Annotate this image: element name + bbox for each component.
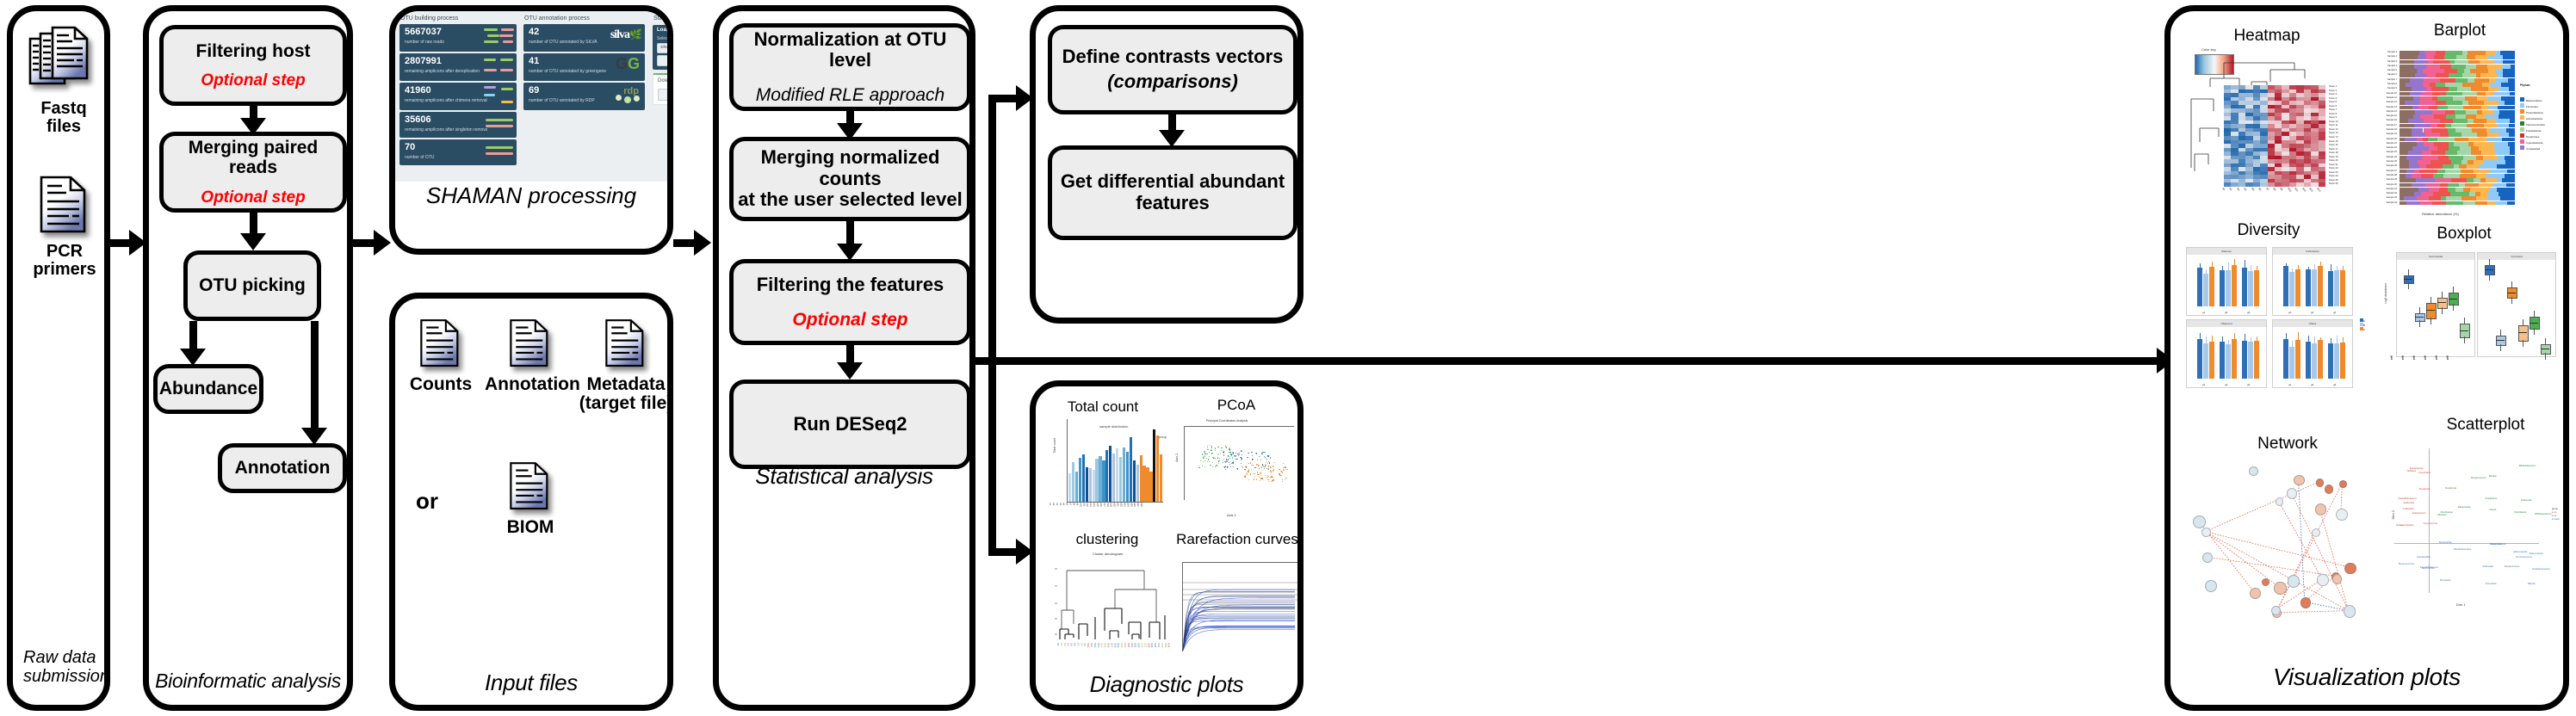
stat-value: 35606	[405, 114, 431, 125]
tick-label: Sample 33	[2387, 196, 2397, 199]
bar-segment	[2479, 146, 2495, 151]
scatter-label: Blautia	[2489, 474, 2497, 478]
bar	[2328, 343, 2333, 379]
bar-segment	[2505, 101, 2515, 105]
bar	[2254, 341, 2259, 379]
scatter-point	[1220, 454, 1221, 454]
arrow-trunk-to-visualization	[1029, 357, 2158, 365]
bar-segment	[2488, 55, 2504, 59]
rarefaction-curve	[1183, 620, 1295, 651]
scatter-label: Alistipes	[2407, 469, 2416, 472]
scatter-label: Lactobacillus	[2417, 555, 2430, 559]
bar-segment	[2480, 73, 2498, 77]
scatter-point	[1272, 480, 1273, 481]
open-counts-button[interactable]: Open the counts table	[657, 55, 673, 66]
plot-network	[2183, 455, 2370, 627]
whisker	[2489, 259, 2490, 265]
network-node	[2202, 552, 2213, 563]
error-bar	[2222, 336, 2223, 342]
tick-label: Sample 7	[2387, 78, 2397, 81]
bar-segment	[2426, 73, 2436, 77]
bar-segment	[2484, 124, 2498, 128]
document-icon	[418, 318, 463, 369]
scatter-point	[1256, 453, 1257, 454]
scatter-point	[1208, 459, 1209, 460]
network-node	[2288, 575, 2300, 588]
bar	[1153, 429, 1155, 502]
bar-segment	[2484, 101, 2499, 105]
sparkline-icon	[484, 146, 517, 160]
bar	[2340, 270, 2345, 306]
scatter-point	[1285, 478, 1286, 478]
arrow-statistical-trunk	[975, 357, 1029, 365]
stat-value: 41	[529, 56, 539, 66]
scatter-point	[1215, 447, 1216, 448]
bar	[1105, 450, 1108, 502]
scatter-label: Roseburia	[2445, 486, 2456, 490]
bar	[2248, 342, 2253, 379]
tick-label: Sample 20	[2387, 138, 2397, 140]
scatter-point	[1242, 466, 1242, 466]
tick-label: Sample 28	[2387, 174, 2397, 176]
tick-label: Taxon 6	[2329, 105, 2337, 108]
step-title: Filtering the features	[757, 275, 944, 296]
plot-title-clustering: clustering	[1051, 531, 1163, 548]
tick-label: Sample 2	[2387, 55, 2397, 58]
tick-label: Sample 34	[2387, 201, 2397, 204]
bar-segment	[2444, 55, 2456, 59]
whisker	[2430, 297, 2431, 303]
bar	[2289, 347, 2294, 380]
tick-label: g1	[2202, 311, 2205, 314]
scatter-point	[1204, 466, 1205, 467]
box	[2437, 298, 2448, 309]
scatter-point	[1258, 474, 1259, 475]
bar-segment	[2417, 69, 2423, 73]
bar-segment	[2494, 146, 2510, 151]
bar	[2306, 342, 2311, 379]
bar-segment	[2453, 119, 2467, 123]
tick-label: Sample 17	[2387, 124, 2397, 127]
error-bar	[2337, 266, 2338, 271]
bar-segment	[2431, 87, 2449, 91]
bar-segment	[2443, 174, 2460, 178]
bar-segment	[2476, 114, 2485, 119]
bar-segment	[2506, 183, 2515, 188]
bar-segment	[2432, 201, 2447, 206]
scatter-point	[1227, 466, 1228, 467]
scatter-point	[1266, 462, 1266, 463]
bar-segment	[2455, 60, 2468, 65]
bar-segment	[2484, 160, 2505, 164]
bar-segment	[2446, 201, 2462, 206]
bar-segment	[2497, 164, 2515, 169]
rarefaction-curve	[1183, 618, 1295, 651]
scatter-point	[1270, 467, 1271, 468]
step-run-deseq2: Run DESeq2	[729, 380, 971, 469]
bar-segment	[2437, 138, 2455, 142]
bar-segment	[2498, 124, 2509, 128]
tick-label: Taxon 7	[2329, 108, 2337, 111]
arrow-otu-to-abundance	[189, 321, 197, 352]
tick-label: Taxon 22	[2329, 167, 2338, 170]
bar-segment	[2409, 164, 2420, 169]
stat-value: 5667037	[405, 27, 442, 37]
bar-segment	[2446, 92, 2461, 96]
scatter-point	[1267, 455, 1268, 456]
shaman-annotation-card-1: 41 number of OTU annotated by greengenes…	[523, 53, 645, 81]
bar-segment	[2445, 110, 2455, 114]
bar-segment	[2455, 110, 2465, 114]
box	[2530, 317, 2540, 330]
scatter-point	[1241, 463, 1242, 464]
rarefaction-curve	[1183, 603, 1295, 651]
bar	[1068, 473, 1071, 502]
whisker	[2453, 304, 2454, 311]
scatter-point	[1223, 453, 1224, 454]
step-title: OTU picking	[199, 275, 306, 296]
facet-panel: Corrected	[2477, 252, 2556, 357]
bar-segment	[2439, 188, 2448, 192]
bar-segment	[2400, 160, 2409, 164]
scatter-label: Roseburia	[2419, 487, 2430, 491]
rarefaction-curve	[1183, 609, 1295, 651]
scatter-label: Ruminococcus	[2399, 562, 2414, 565]
scatter-label: Streptococcus	[2471, 476, 2486, 479]
bar-segment	[2469, 192, 2475, 196]
step-merging-paired-reads: Merging paired reads Optional step	[159, 132, 347, 213]
scatter-point	[1282, 479, 1283, 480]
tick-label: S4	[2243, 187, 2247, 191]
median-line	[2518, 332, 2527, 333]
bar-segment	[2470, 69, 2488, 73]
bar-segment	[2409, 160, 2417, 164]
bar-segment	[2470, 188, 2490, 192]
bar-segment	[2418, 55, 2426, 59]
scatter-point	[1259, 468, 1260, 469]
step-title-line1: Merging normalized counts	[734, 147, 967, 189]
bar	[2209, 267, 2214, 306]
bar-segment	[2445, 83, 2462, 87]
whisker	[2500, 330, 2501, 336]
scatter-point	[1273, 466, 1274, 467]
bar-segment	[2445, 124, 2451, 128]
shaman-caption: SHAMAN processing	[395, 183, 667, 208]
scatter-point	[1261, 454, 1262, 454]
bar-segment	[2505, 174, 2515, 178]
whisker	[2442, 292, 2443, 298]
plot-title-network: Network	[2219, 435, 2356, 454]
scatter-point	[1210, 445, 1211, 446]
tick-label: S11	[2294, 187, 2299, 192]
scatter-label: Odoribacter	[2514, 510, 2527, 514]
scatter-point	[1254, 478, 1254, 479]
bar-segment	[2450, 192, 2468, 196]
tick-label: Taxon 8	[2329, 113, 2337, 115]
box	[2485, 265, 2495, 275]
bar-segment	[2420, 201, 2431, 206]
scatter-point	[1256, 479, 1257, 480]
tick-label: S3	[2236, 187, 2240, 191]
bar-segment	[2487, 133, 2499, 137]
tick-label: Sample 3	[2387, 60, 2397, 63]
download-results-button[interactable]: Download the results	[658, 89, 673, 101]
stat-caption: remaining amplicons after singleton remo…	[405, 127, 487, 133]
scatter-point	[1261, 466, 1262, 467]
bar-segment	[2400, 69, 2417, 73]
scatter-point	[1280, 475, 1281, 476]
scatter-point	[1239, 454, 1240, 455]
arrow-inputs-to-statistical	[673, 239, 696, 247]
bar-segment	[2437, 146, 2449, 151]
error-bar	[2228, 340, 2229, 344]
bar	[2289, 272, 2294, 306]
error-bar	[2343, 337, 2344, 342]
tick-label: Sample 25	[2387, 160, 2397, 163]
bar-segment	[2499, 192, 2515, 196]
tick-label: Taxon 21	[2329, 164, 2338, 166]
tick-label: Taxon 9	[2329, 116, 2337, 119]
shaman-screenshot: OTU building process 5667037 number of r…	[395, 11, 673, 182]
tick-label: Sample 21	[2387, 142, 2397, 145]
scatter-label: Dorea	[2396, 523, 2403, 527]
bar-segment	[2466, 65, 2476, 69]
bar-segment	[2400, 65, 2414, 69]
scatter-label: Collinsella	[2482, 565, 2493, 568]
error-bar	[2212, 336, 2213, 342]
error-bar	[2320, 262, 2321, 266]
stat-value: 2807991	[405, 56, 442, 66]
bar-segment	[2434, 114, 2447, 119]
bar	[2203, 274, 2208, 306]
network-node	[2287, 488, 2297, 498]
error-bar	[2292, 341, 2293, 347]
whisker	[2464, 318, 2465, 324]
bar-segment	[2503, 69, 2515, 73]
error-bar	[2308, 336, 2309, 342]
step-normalization-otu-level: Normalization at OTU level Modified RLE …	[729, 23, 971, 111]
scatter-point	[1215, 466, 1216, 467]
median-line	[2426, 310, 2435, 311]
tick-label: Sample 27	[2387, 170, 2397, 172]
error-bar	[2222, 266, 2223, 271]
bar-segment	[2423, 83, 2430, 87]
bar-segment	[2400, 174, 2406, 178]
legend-label: Unclassified	[2526, 147, 2540, 151]
bar	[1112, 454, 1115, 502]
scatter-point	[1280, 471, 1281, 472]
shaman-download-panel: Download a profile Download the results	[653, 73, 673, 105]
whisker	[2430, 318, 2431, 324]
stat-caption: number of raw reads	[405, 40, 484, 45]
scatter-point	[1246, 466, 1247, 466]
bar-segment	[2400, 178, 2416, 182]
bar-segment	[2437, 124, 2444, 128]
scatter-point	[1257, 460, 1258, 460]
bar-segment	[2502, 65, 2511, 69]
bar	[2232, 265, 2237, 306]
tick-label: grp3	[2412, 355, 2415, 360]
bar-segment	[2419, 170, 2437, 174]
bar-segment	[2400, 170, 2406, 174]
bar-segment	[2486, 92, 2493, 96]
bar-segment	[2487, 196, 2501, 201]
tick-label: g3	[2247, 311, 2250, 314]
scatter-point	[1273, 470, 1273, 471]
scatter-point	[1259, 477, 1260, 478]
shaman-otu-card-3: 35606 remaining amplicons after singleto…	[399, 112, 517, 138]
bar-segment	[2509, 124, 2515, 128]
error-bar	[2200, 263, 2201, 268]
bar-segment	[2475, 201, 2487, 206]
step-title-line2: at the user selected level	[738, 189, 962, 211]
error-bar	[2245, 260, 2245, 268]
bar-segment	[2499, 133, 2510, 137]
arrow-otu-to-abundance-head	[180, 349, 206, 366]
plot-title-pcoa: PCoA	[1172, 397, 1301, 414]
database-select[interactable]: silva ▾	[657, 43, 673, 53]
step-title-line2: features	[1136, 193, 1210, 214]
tick-label: Taxon 23	[2329, 171, 2338, 174]
raw-data-item-label-0: Fastq files	[22, 100, 106, 136]
arrow-bioinformatic-to-shaman-head	[374, 230, 391, 256]
bar-segment	[2462, 101, 2469, 105]
bar-segment	[2502, 178, 2515, 182]
bar-segment	[2446, 101, 2462, 105]
bar-segment	[2489, 78, 2497, 83]
bar-segment	[2440, 65, 2451, 69]
panel-shaman-processing: OTU building process 5667037 number of r…	[389, 5, 673, 255]
bar-segment	[2503, 55, 2515, 59]
scatter-point	[1279, 473, 1279, 474]
scatter-point	[1250, 462, 1251, 463]
bar-segment	[2406, 156, 2422, 160]
error-bar	[2206, 269, 2207, 274]
bar-segment	[2476, 156, 2483, 160]
scatter-point	[1272, 477, 1273, 478]
facet-title: Shannon	[2187, 248, 2266, 255]
bar-segment	[2457, 151, 2471, 155]
bar-segment	[2488, 87, 2499, 91]
tick-label: Sample 13	[2387, 106, 2397, 108]
stat-caption: number of OTU annotated by SILVA	[529, 40, 606, 45]
scatter-point	[1267, 479, 1268, 480]
bar-segment	[2509, 133, 2515, 137]
bar	[1149, 472, 1152, 502]
bar-segment	[2488, 192, 2499, 196]
bar-segment	[2425, 51, 2436, 55]
bar-segment	[2424, 78, 2441, 83]
network-node	[2325, 485, 2334, 494]
scatter-point	[1229, 452, 1230, 453]
bar-segment	[2462, 83, 2481, 87]
bar-segment	[2480, 192, 2488, 196]
bar-segment	[2422, 151, 2431, 155]
tick-label: Taxon 1	[2329, 85, 2337, 88]
document-icon	[604, 318, 648, 369]
raw-data-caption: Raw data submission	[23, 648, 115, 686]
bar-segment	[2497, 188, 2515, 192]
bar-segment	[2499, 114, 2515, 119]
rarefaction-curve	[1183, 629, 1295, 651]
bar-segment	[2485, 114, 2499, 119]
arrow-merging-to-otu-head	[240, 233, 266, 250]
bar-segment	[2400, 133, 2412, 137]
bar-segment	[2444, 69, 2456, 73]
scatter-point	[1229, 447, 1230, 447]
facet-title: InvSimpson	[2273, 248, 2352, 255]
bar	[2318, 340, 2323, 379]
tick-label: Sample 16	[2387, 119, 2397, 121]
scatter-point	[1235, 455, 1236, 456]
arrow-otu-to-annotation-head	[301, 428, 327, 445]
panel-visualization-plots: Heatmap Color key Taxon 1Tax	[2164, 5, 2569, 711]
scatter-point	[1217, 466, 1218, 466]
shaman-otu-card-2: 41960 remaining amplicons after chimera …	[399, 83, 517, 110]
bar	[1123, 447, 1125, 502]
bar-segment	[2498, 106, 2515, 110]
scatter-point	[1223, 454, 1224, 455]
bar-segment	[2434, 55, 2443, 59]
bar-segment	[2474, 119, 2486, 123]
error-bar	[2200, 333, 2201, 338]
bar-segment	[2466, 114, 2476, 119]
bar-segment	[2430, 83, 2436, 87]
bar-segment	[2471, 146, 2478, 151]
network-node	[2205, 580, 2217, 592]
bar-segment	[2400, 164, 2409, 169]
scatter-point	[1225, 469, 1226, 470]
input-file-label-annotation: Annotation	[485, 375, 576, 394]
bar-segment	[2417, 142, 2424, 146]
bar	[2226, 344, 2231, 379]
bar	[1140, 455, 1142, 502]
bar-segment	[2505, 156, 2515, 160]
scatter-label: Veillonella	[2521, 498, 2532, 502]
scatter-point	[1279, 469, 1279, 470]
bar-segment	[2434, 142, 2449, 146]
bar-segment	[2400, 110, 2415, 114]
scatter-point	[1244, 469, 1245, 470]
bar-segment	[2481, 106, 2487, 110]
facet-panel: Observedg1g2g3	[2186, 319, 2267, 388]
scatter-point	[1259, 456, 1260, 457]
tick-label: Taxon 19	[2329, 156, 2338, 158]
bar-segment	[2436, 73, 2449, 77]
bar-segment	[2400, 78, 2410, 83]
whisker	[2523, 340, 2523, 347]
bar	[2283, 266, 2288, 306]
tick-label: Sample 24	[2387, 156, 2397, 158]
bar-segment	[2400, 83, 2406, 87]
stat-caption: remaining amplicons after chimera remova…	[405, 98, 489, 103]
scatter-label: Prevotella	[2440, 578, 2450, 582]
bar-segment	[2428, 138, 2437, 142]
tick-label: Taxon 26	[2329, 182, 2338, 185]
bar-segment	[2420, 96, 2432, 101]
statistical-caption: Statistical analysis	[719, 463, 969, 490]
scatter-point	[1254, 473, 1254, 474]
facet-panel: Shannong1g2g3	[2186, 247, 2267, 316]
bar-segment	[2449, 87, 2457, 91]
step-optional-note: Optional step	[792, 310, 907, 330]
bar-segment	[2507, 170, 2515, 174]
scatter-point	[1257, 474, 1258, 475]
box	[2426, 303, 2437, 319]
error-bar	[2245, 334, 2245, 341]
bar	[2306, 269, 2311, 306]
error-bar	[2228, 262, 2229, 270]
